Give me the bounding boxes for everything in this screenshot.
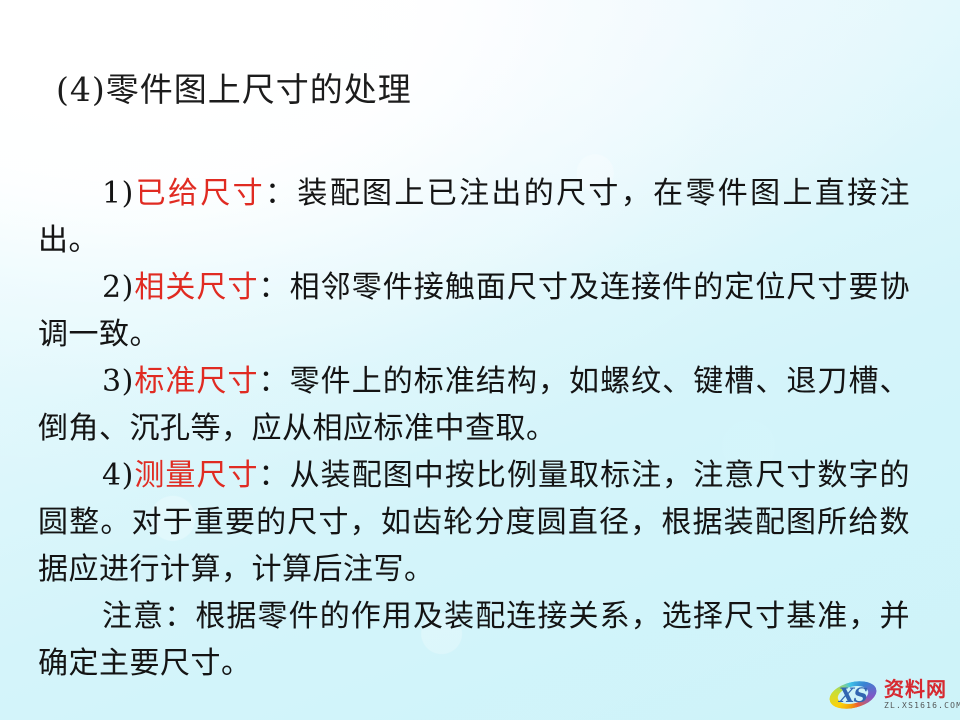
item-term: 已给尺寸 (134, 176, 265, 211)
note-colon: ： (164, 599, 195, 634)
watermark-text-block: 资料网 ZL.XS1616.COM (884, 679, 960, 711)
xs-logo-icon: XS (828, 678, 880, 712)
watermark-site-name: 资料网 (884, 679, 960, 700)
item-number: 2) (102, 270, 134, 305)
page-title: (4)零件图上尺寸的处理 (56, 70, 412, 110)
list-item: 1)已给尺寸：装配图上已注出的尺寸，在零件图上直接注出。 (38, 170, 910, 264)
slide-canvas: (4)零件图上尺寸的处理 1)已给尺寸：装配图上已注出的尺寸，在零件图上直接注出… (0, 0, 960, 720)
item-term: 相关尺寸 (134, 270, 259, 305)
item-number: 3) (102, 364, 134, 399)
slide-content: (4)零件图上尺寸的处理 1)已给尺寸：装配图上已注出的尺寸，在零件图上直接注出… (0, 0, 960, 720)
watermark: XS 资料网 ZL.XS1616.COM (828, 674, 952, 716)
item-colon: ： (259, 458, 290, 493)
item-colon: ： (259, 364, 290, 399)
list-item: 3)标准尺寸：零件上的标准结构，如螺纹、键槽、退刀槽、倒角、沉孔等，应从相应标准… (38, 358, 910, 452)
item-term: 测量尺寸 (134, 458, 259, 493)
item-term: 标准尺寸 (134, 364, 259, 399)
item-number: 4) (102, 458, 134, 493)
watermark-mark-text: XS (828, 681, 878, 709)
note-label: 注意 (102, 599, 164, 634)
list-item: 2)相关尺寸：相邻零件接触面尺寸及连接件的定位尺寸要协调一致。 (38, 264, 910, 358)
item-colon: ： (265, 176, 297, 211)
watermark-url: ZL.XS1616.COM (884, 700, 960, 711)
note-paragraph: 注意：根据零件的作用及装配连接关系，选择尺寸基准，并确定主要尺寸。 (38, 593, 910, 687)
list-item: 4)测量尺寸：从装配图中按比例量取标注，注意尺寸数字的圆整。对于重要的尺寸，如齿… (38, 452, 910, 593)
item-number: 1) (102, 176, 134, 211)
item-colon: ： (259, 270, 290, 305)
